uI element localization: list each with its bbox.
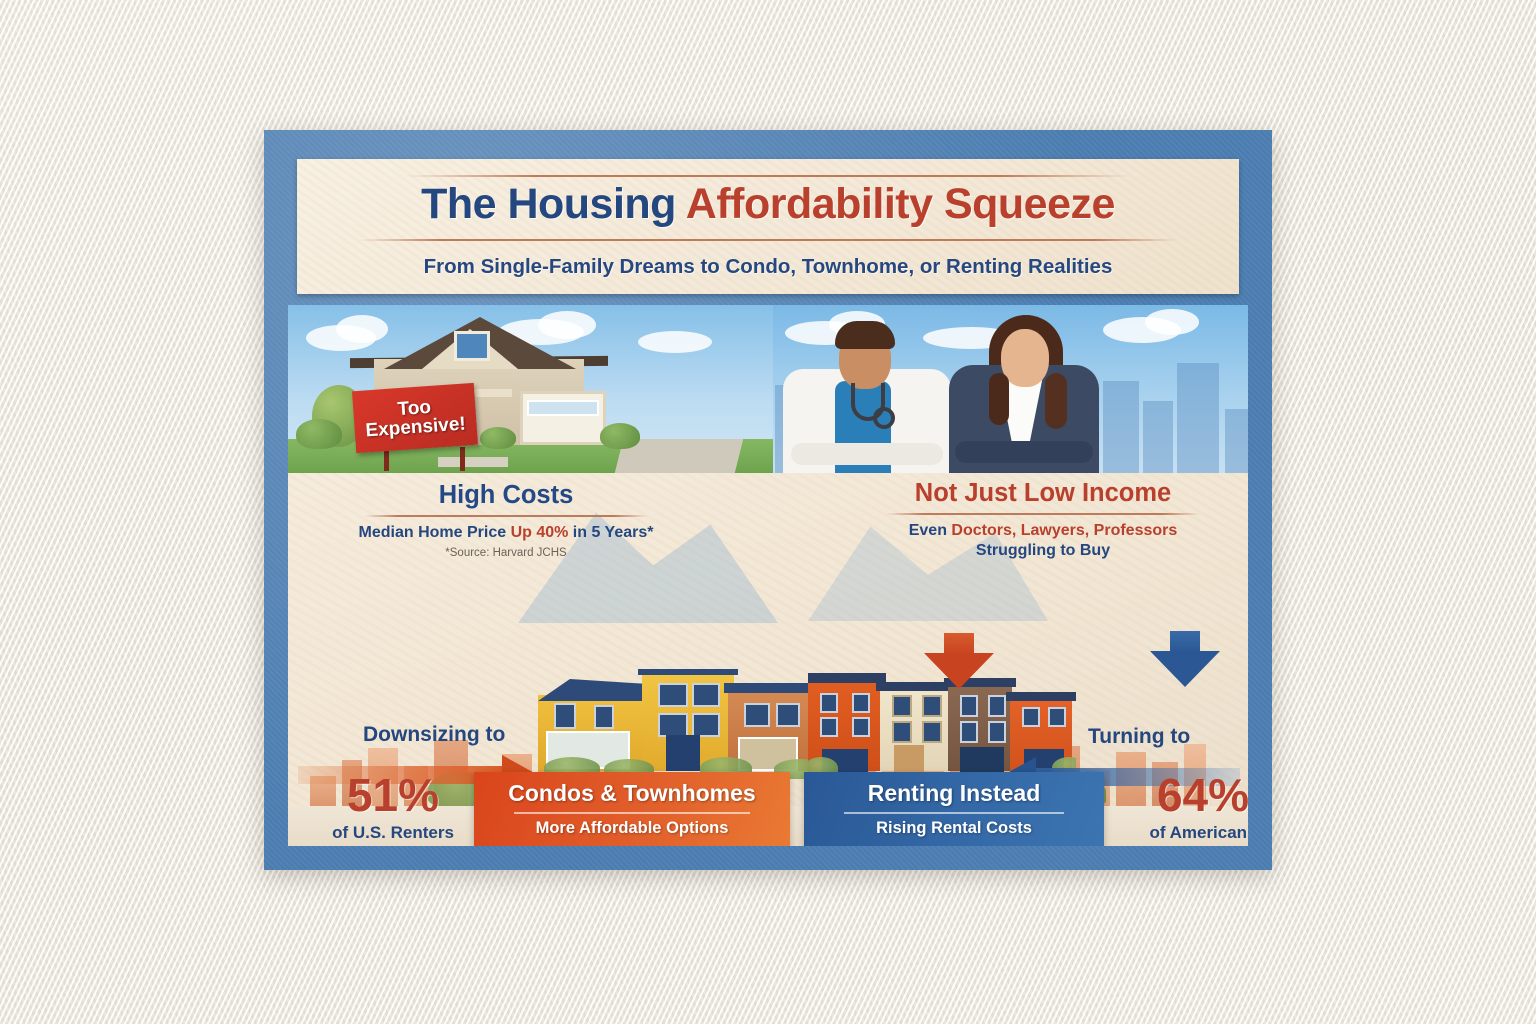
renting-banner-title: Renting Instead xyxy=(804,772,1104,807)
professional-arms xyxy=(955,441,1093,463)
high-costs-subtext: Median Home Price Up 40% in 5 Years* xyxy=(356,523,656,543)
red-down-arrow-icon xyxy=(924,633,994,689)
title-rule-top xyxy=(405,175,1131,177)
condos-banner: Condos & Townhomes More Affordable Optio… xyxy=(474,772,790,846)
renting-banner-rule xyxy=(844,812,1064,814)
professions-sub-a: Even xyxy=(909,522,952,539)
renters-cost-burdened-stat: 51% of U.S. Renters Are Cost Burdened* *… xyxy=(298,773,488,846)
cannot-afford-stat: 64% of Americans Can't Afford to Buy* *S… xyxy=(1108,773,1248,846)
infographic-body: High Costs Median Home Price Up 40% in 5… xyxy=(288,473,1248,846)
stat-51-line1: of U.S. Renters xyxy=(298,823,488,843)
too-expensive-sign: Too Expensive! xyxy=(352,383,478,453)
condos-banner-rule xyxy=(514,812,750,814)
doctor-hair xyxy=(835,321,895,349)
professional-hair-left xyxy=(989,373,1009,425)
stat-64-line1: of Americans xyxy=(1108,823,1248,843)
professions-subtext: Even Doctors, Lawyers, Professors xyxy=(878,521,1208,541)
blue-down-arrow-icon xyxy=(1150,631,1220,687)
left-header-rule xyxy=(364,515,648,517)
condos-townhomes-illustration xyxy=(538,669,828,779)
condos-banner-subtitle: More Affordable Options xyxy=(474,819,790,838)
title-part-two: Affordability Squeeze xyxy=(686,180,1115,228)
renting-banner-subtitle: Rising Rental Costs xyxy=(804,819,1104,838)
too-expensive-sign-text: Too Expensive! xyxy=(353,394,477,441)
stat-64-percent: 64% xyxy=(1108,773,1248,818)
infographic-poster: The Housing Affordability Squeeze From S… xyxy=(264,130,1272,870)
not-just-low-income-heading: Not Just Low Income xyxy=(878,479,1208,508)
struggling-to-buy-text: Struggling to Buy xyxy=(878,541,1208,561)
high-costs-sub-highlight: Up 40% xyxy=(511,524,569,541)
stat-64-line2: Can't Afford to Buy* xyxy=(1108,843,1248,846)
title-plate: The Housing Affordability Squeeze From S… xyxy=(297,159,1239,294)
right-header-rule xyxy=(886,513,1200,515)
stat-51-percent: 51% xyxy=(298,773,488,818)
condos-banner-title: Condos & Townhomes xyxy=(474,772,790,807)
renting-banner: Renting Instead Rising Rental Costs xyxy=(804,772,1104,846)
professions-sub-highlight: Doctors, Lawyers, Professors xyxy=(951,522,1177,539)
high-costs-source: *Source: Harvard JCHS xyxy=(356,547,656,559)
right-column-header: Not Just Low Income Even Doctors, Lawyer… xyxy=(878,479,1208,562)
hero-image-band: Too Expensive! xyxy=(288,305,1248,473)
left-column-header: High Costs Median Home Price Up 40% in 5… xyxy=(356,481,656,559)
doctor-arms xyxy=(791,443,943,465)
title-part-one: The Housing xyxy=(421,180,686,228)
page-subtitle: From Single-Family Dreams to Condo, Town… xyxy=(424,255,1113,279)
professionals-illustration xyxy=(773,305,1248,473)
downsizing-label: Downsizing to xyxy=(363,723,505,747)
turning-to-label: Turning to xyxy=(1088,725,1190,749)
professional-hair-right xyxy=(1045,373,1067,429)
stat-51-line2: Are Cost Burdened* xyxy=(298,843,488,846)
high-costs-sub-b: in 5 Years* xyxy=(568,524,653,541)
high-costs-heading: High Costs xyxy=(356,481,656,510)
page-title: The Housing Affordability Squeeze xyxy=(421,180,1115,229)
title-rule-middle xyxy=(359,239,1177,241)
single-family-house-illustration: Too Expensive! xyxy=(288,305,773,473)
high-costs-sub-a: Median Home Price xyxy=(359,524,511,541)
